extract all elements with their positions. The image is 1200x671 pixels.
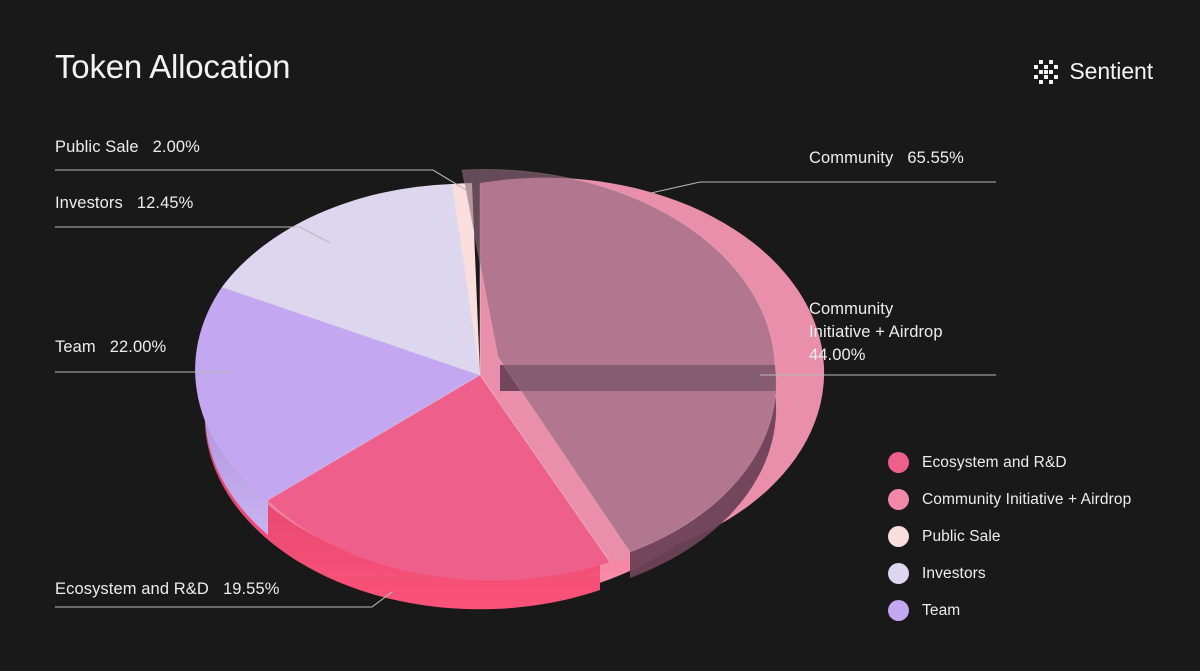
- callout-community-initiative-line3: 44.00%: [809, 344, 1029, 367]
- callout-team: Team22.00%: [55, 338, 166, 357]
- callout-investors-label: Investors: [55, 194, 123, 212]
- callout-ecosystem: Ecosystem and R&D19.55%: [55, 580, 280, 599]
- callout-community-initiative-line1: Community: [809, 298, 1029, 321]
- callout-investors: Investors12.45%: [55, 194, 193, 213]
- legend-swatch-public-sale: [888, 526, 909, 547]
- callout-ecosystem-label: Ecosystem and R&D: [55, 580, 209, 598]
- chart-legend: Ecosystem and R&D Community Initiative +…: [888, 452, 1131, 621]
- callout-community: Community65.55%: [809, 149, 964, 168]
- callout-ecosystem-value: 19.55%: [223, 580, 280, 598]
- callout-community-label: Community: [809, 149, 893, 167]
- callout-public-sale: Public Sale2.00%: [55, 138, 200, 157]
- callout-team-label: Team: [55, 338, 96, 356]
- legend-item-team[interactable]: Team: [888, 600, 1131, 621]
- legend-label-team: Team: [922, 602, 960, 620]
- legend-item-investors[interactable]: Investors: [888, 563, 1131, 584]
- callout-community-initiative-line2: Initiative + Airdrop: [809, 321, 1029, 344]
- legend-label-community-initiative-airdrop: Community Initiative + Airdrop: [922, 491, 1131, 509]
- legend-swatch-investors: [888, 563, 909, 584]
- callout-community-value: 65.55%: [907, 149, 964, 167]
- token-allocation-slide: Token Allocation Sentient: [0, 0, 1200, 671]
- callout-public-sale-label: Public Sale: [55, 138, 139, 156]
- leader-public-sale: [55, 170, 466, 190]
- callout-team-value: 22.00%: [110, 338, 167, 356]
- legend-swatch-community-initiative-airdrop: [888, 489, 909, 510]
- legend-swatch-team: [888, 600, 909, 621]
- legend-item-ecosystem-and-rnd[interactable]: Ecosystem and R&D: [888, 452, 1131, 473]
- legend-item-community-initiative-airdrop[interactable]: Community Initiative + Airdrop: [888, 489, 1131, 510]
- callout-public-sale-value: 2.00%: [153, 138, 200, 156]
- legend-label-investors: Investors: [922, 565, 986, 583]
- callout-investors-value: 12.45%: [137, 194, 194, 212]
- legend-item-public-sale[interactable]: Public Sale: [888, 526, 1131, 547]
- callout-community-initiative: Community Initiative + Airdrop 44.00%: [809, 298, 1029, 367]
- legend-label-ecosystem-and-rnd: Ecosystem and R&D: [922, 454, 1067, 472]
- legend-label-public-sale: Public Sale: [922, 528, 1001, 546]
- leader-community: [651, 182, 996, 193]
- legend-swatch-ecosystem-and-rnd: [888, 452, 909, 473]
